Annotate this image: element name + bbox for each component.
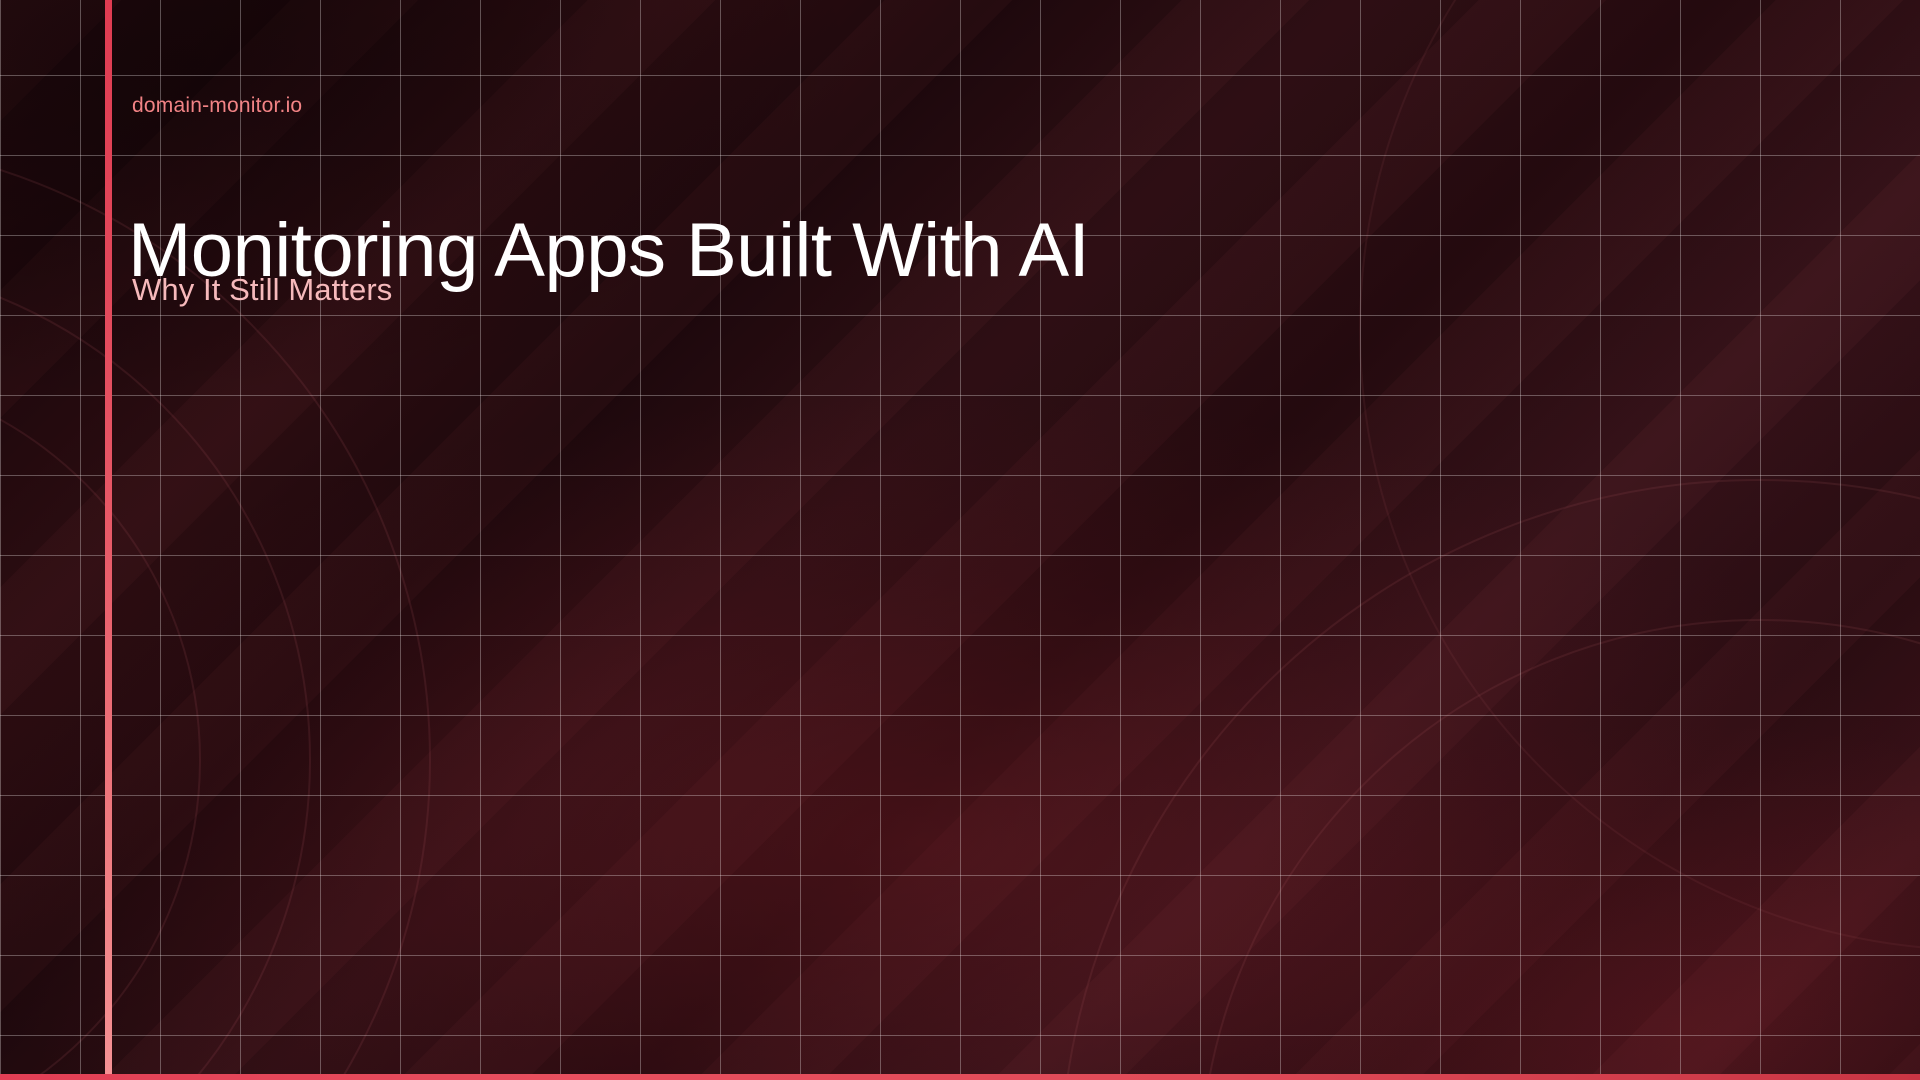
page-subtitle: Why It Still Matters — [132, 272, 392, 308]
bottom-accent-rule — [0, 1074, 1920, 1080]
title-slide: domain-monitor.io Monitoring Apps Built … — [0, 0, 1920, 1080]
background-grid — [0, 0, 1920, 1080]
eyebrow-label: domain-monitor.io — [132, 94, 302, 118]
left-accent-bar — [105, 0, 112, 1080]
